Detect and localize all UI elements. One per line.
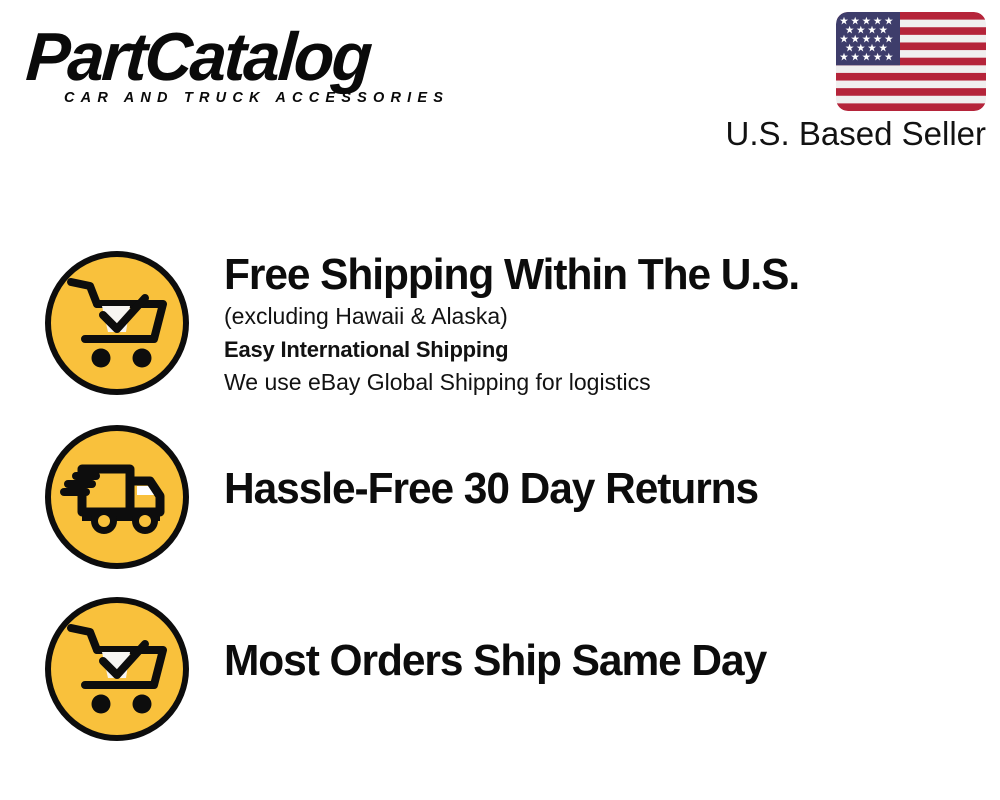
feature-subtitle: Easy International Shipping	[224, 333, 820, 366]
feature-title: Free Shipping Within The U.S.	[224, 250, 799, 300]
delivery-truck-icon	[42, 422, 192, 572]
feature-text-block: Hassle-Free 30 Day Returns	[224, 420, 777, 514]
feature-icon-wrapper	[42, 248, 192, 398]
seller-label: U.S. Based Seller	[706, 115, 986, 153]
us-flag-icon	[836, 12, 986, 111]
brand-wordmark: PartCatalog	[24, 22, 485, 92]
feature-icon-wrapper	[42, 420, 192, 572]
feature-title: Most Orders Ship Same Day	[224, 636, 766, 686]
feature-row: Most Orders Ship Same Day	[0, 592, 1000, 744]
feature-subtitle: We use eBay Global Shipping for logistic…	[224, 366, 820, 399]
feature-text-block: Free Shipping Within The U.S. (excluding…	[224, 248, 820, 399]
us-based-seller-badge: U.S. Based Seller	[706, 12, 986, 153]
feature-icon-wrapper	[42, 592, 192, 744]
brand-logo[interactable]: PartCatalog CAR AND TRUCK ACCESSORIES	[24, 22, 494, 106]
feature-text-block: Most Orders Ship Same Day	[224, 592, 786, 686]
shopping-cart-check-icon	[42, 594, 192, 744]
feature-title: Hassle-Free 30 Day Returns	[224, 464, 758, 514]
feature-subtitle: (excluding Hawaii & Alaska)	[224, 300, 820, 333]
feature-row: Free Shipping Within The U.S. (excluding…	[0, 248, 1000, 399]
feature-row: Hassle-Free 30 Day Returns	[0, 420, 1000, 572]
shopping-cart-check-icon	[42, 248, 192, 398]
